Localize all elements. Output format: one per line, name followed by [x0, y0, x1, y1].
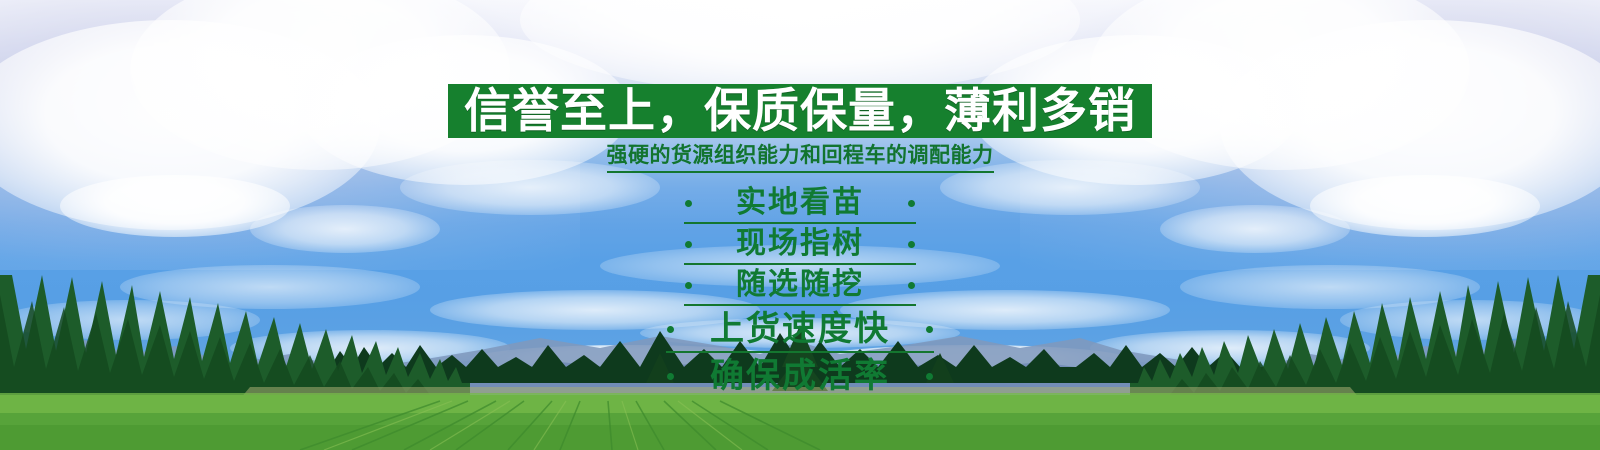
bullet-dot-icon — [685, 241, 692, 248]
feature-item-2: 现场指树 — [685, 224, 915, 265]
bullet-dot-icon — [926, 373, 933, 380]
feature-label: 现场指树 — [714, 229, 886, 259]
promo-banner: 信誉至上，保质保量，薄利多销 强硬的货源组织能力和回程车的调配能力 实地看苗 现… — [0, 0, 1600, 450]
feature-list: 实地看苗 现场指树 随选随挖 上货速度快 — [667, 183, 933, 400]
bullet-dot-icon — [908, 200, 915, 207]
feature-label: 上货速度快 — [702, 312, 898, 346]
headline-bar: 信誉至上，保质保量，薄利多销 — [448, 84, 1152, 138]
feature-label: 实地看苗 — [714, 188, 886, 218]
feature-label: 随选随挖 — [714, 270, 886, 300]
banner-content: 信誉至上，保质保量，薄利多销 强硬的货源组织能力和回程车的调配能力 实地看苗 现… — [0, 0, 1600, 450]
bullet-dot-icon — [667, 326, 674, 333]
feature-label: 确保成活率 — [702, 359, 898, 393]
bullet-dot-icon — [926, 326, 933, 333]
bullet-dot-icon — [908, 282, 915, 289]
headline-text: 信誉至上，保质保量，薄利多销 — [464, 88, 1136, 135]
feature-item-1: 实地看苗 — [685, 183, 915, 224]
feature-item-3: 随选随挖 — [685, 265, 915, 306]
bullet-dot-icon — [667, 373, 674, 380]
feature-item-5: 确保成活率 — [667, 353, 933, 400]
bullet-dot-icon — [685, 200, 692, 207]
subtitle-text: 强硬的货源组织能力和回程车的调配能力 — [607, 145, 994, 173]
bullet-dot-icon — [908, 241, 915, 248]
feature-item-4: 上货速度快 — [667, 306, 933, 353]
bullet-dot-icon — [685, 282, 692, 289]
